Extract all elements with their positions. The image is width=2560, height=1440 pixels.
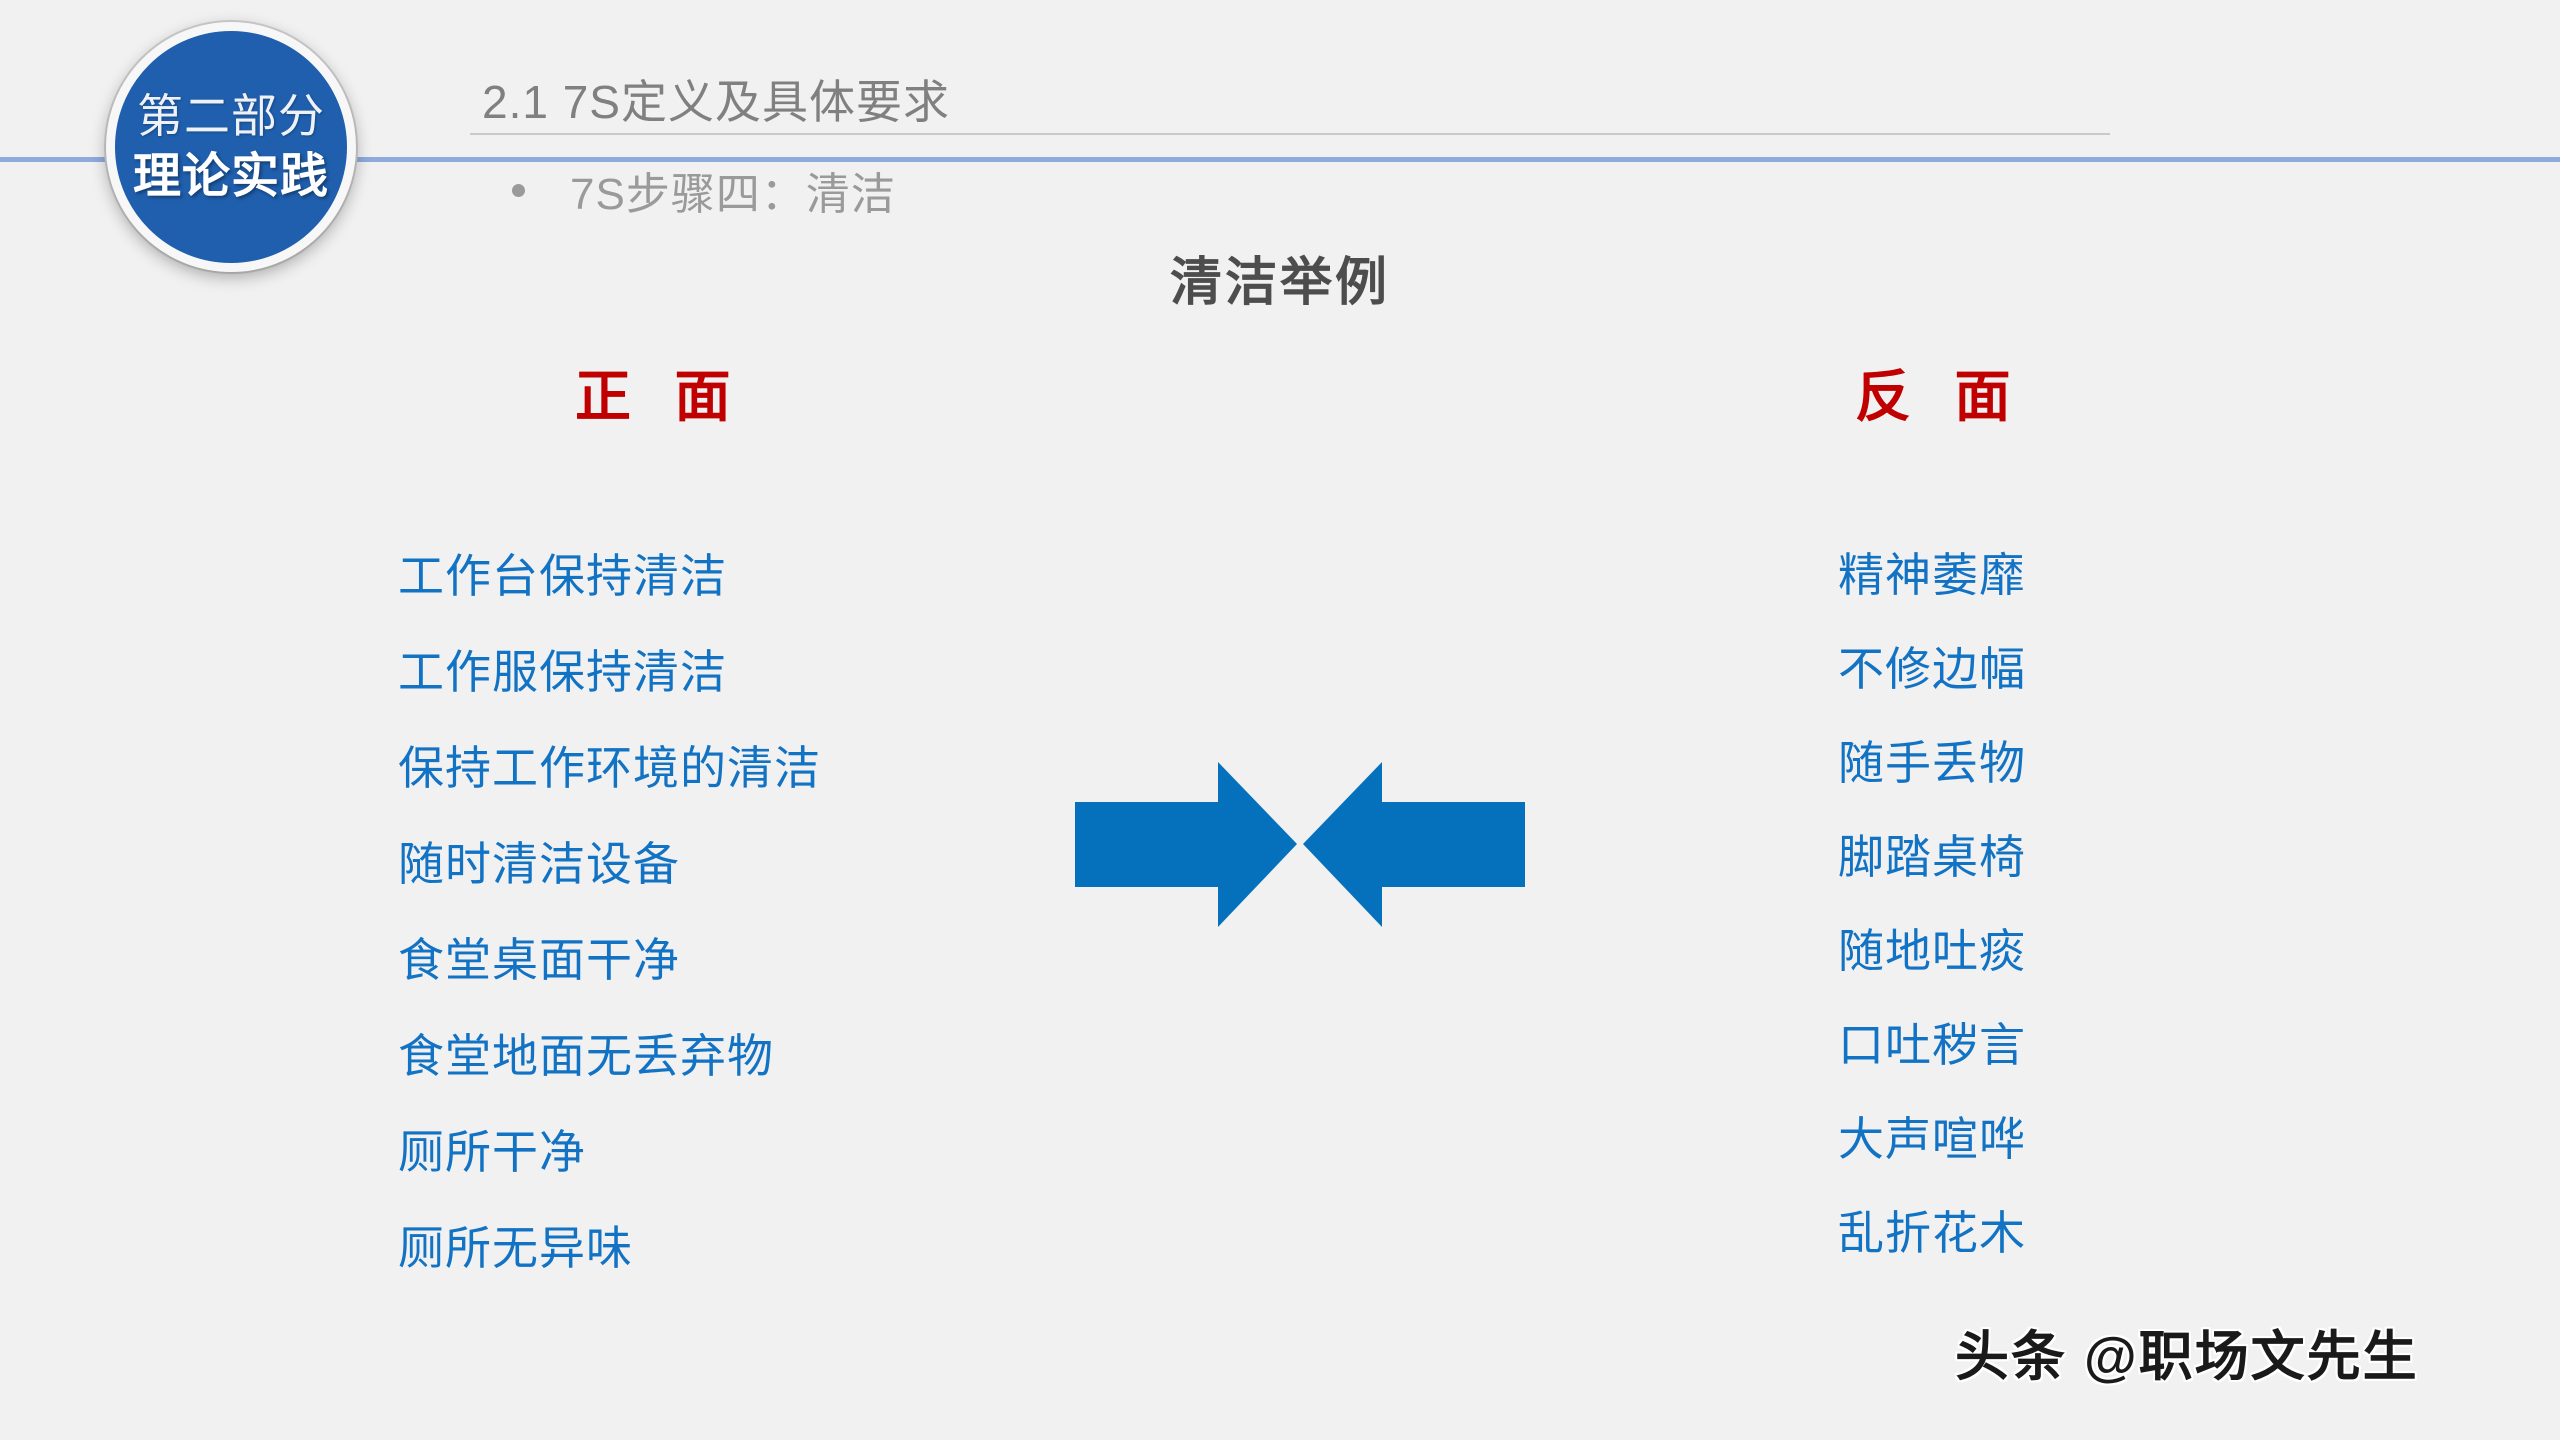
list-item: 厕所无异味 — [398, 1200, 821, 1296]
bullet-dot-icon — [512, 184, 525, 197]
column-heading-negative: 反 面 — [1855, 352, 2025, 433]
list-item: 工作服保持清洁 — [398, 624, 821, 720]
page-title: 2.1 7S定义及具体要求 — [482, 66, 950, 132]
list-item: 工作台保持清洁 — [398, 528, 821, 624]
list-item: 随手丢物 — [1838, 716, 2026, 810]
list-item: 保持工作环境的清洁 — [398, 720, 821, 816]
list-item: 精神萎靡 — [1838, 528, 2026, 622]
list-item: 食堂地面无丢弃物 — [398, 1008, 821, 1104]
header-blue-rule — [0, 157, 2560, 162]
column-heading-positive: 正 面 — [575, 352, 745, 433]
positive-list: 工作台保持清洁 工作服保持清洁 保持工作环境的清洁 随时清洁设备 食堂桌面干净 … — [398, 528, 821, 1296]
list-item: 食堂桌面干净 — [398, 912, 821, 1008]
content-title: 清洁举例 — [0, 240, 2560, 315]
arrow-right-icon — [1075, 762, 1297, 927]
list-item: 脚踏桌椅 — [1838, 810, 2026, 904]
center-arrows-graphic — [1075, 762, 1525, 927]
header-thin-divider — [470, 133, 2110, 135]
slide-canvas: 第二部分 理论实践 2.1 7S定义及具体要求 7S步骤四：清洁 清洁举例 正 … — [0, 0, 2560, 1440]
header-subtitle-row: 7S步骤四：清洁 — [512, 158, 896, 222]
arrow-left-icon — [1303, 762, 1525, 927]
list-item: 乱折花木 — [1838, 1186, 2026, 1280]
negative-list: 精神萎靡 不修边幅 随手丢物 脚踏桌椅 随地吐痰 口吐秽言 大声喧哗 乱折花木 — [1838, 528, 2026, 1280]
list-item: 不修边幅 — [1838, 622, 2026, 716]
header-subtitle-label: 7S步骤四：清洁 — [570, 158, 896, 222]
list-item: 随地吐痰 — [1838, 904, 2026, 998]
list-item: 大声喧哗 — [1838, 1092, 2026, 1186]
watermark-label: 头条 @职场文先生 — [1955, 1312, 2419, 1391]
section-badge-title-label: 理论实践 — [133, 153, 329, 201]
section-badge-part-label: 第二部分 — [137, 93, 325, 139]
list-item: 厕所干净 — [398, 1104, 821, 1200]
list-item: 口吐秽言 — [1838, 998, 2026, 1092]
section-badge: 第二部分 理论实践 — [106, 22, 356, 272]
list-item: 随时清洁设备 — [398, 816, 821, 912]
